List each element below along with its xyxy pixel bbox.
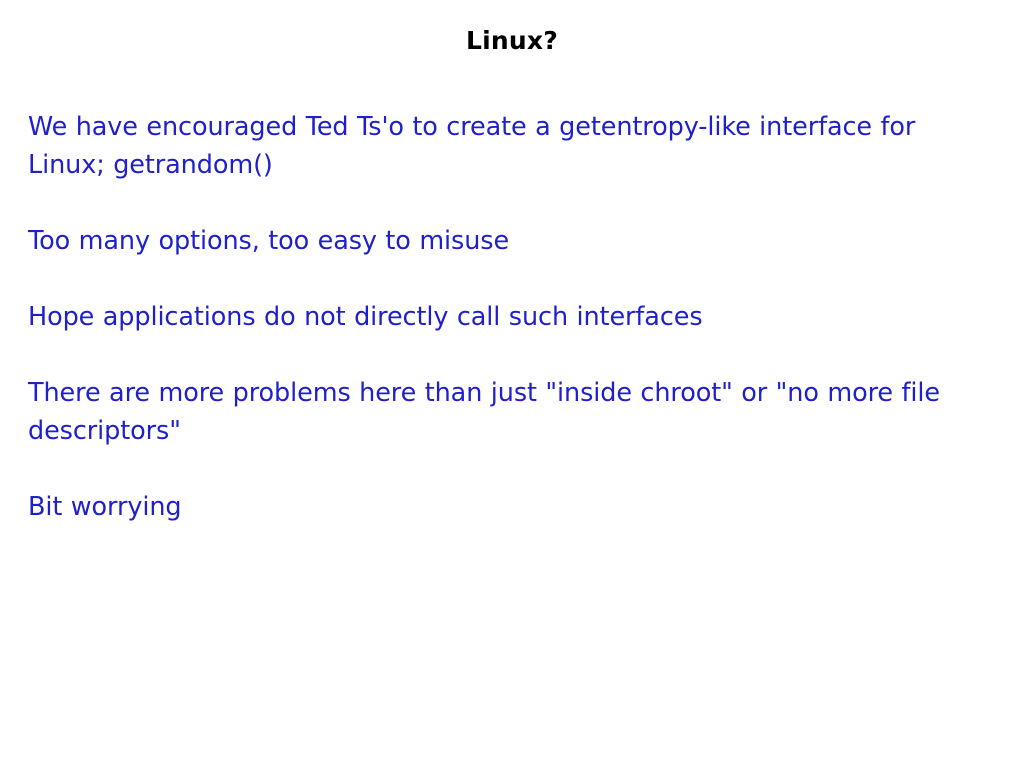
body-paragraph-5: Bit worrying <box>28 488 963 526</box>
slide-body: We have encouraged Ted Ts'o to create a … <box>28 108 963 526</box>
body-paragraph-3: Hope applications do not directly call s… <box>28 298 963 336</box>
body-paragraph-1: We have encouraged Ted Ts'o to create a … <box>28 108 963 184</box>
page-title: Linux? <box>0 26 1024 56</box>
body-paragraph-4: There are more problems here than just "… <box>28 374 963 450</box>
body-paragraph-2: Too many options, too easy to misuse <box>28 222 963 260</box>
slide-canvas: Linux? We have encouraged Ted Ts'o to cr… <box>0 0 1024 768</box>
